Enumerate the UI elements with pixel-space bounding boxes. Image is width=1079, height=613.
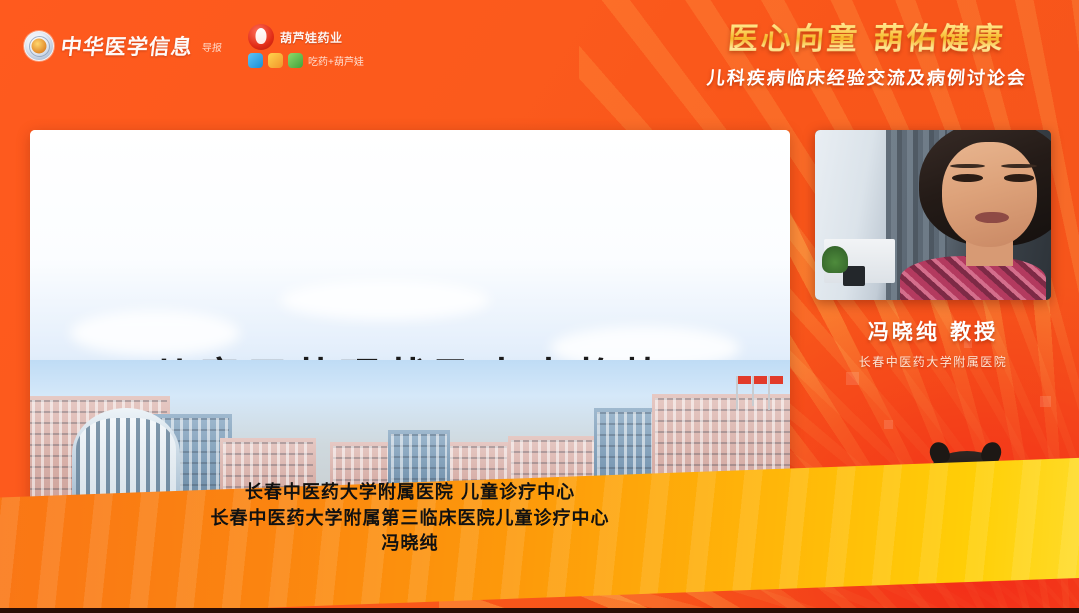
publisher-wordmark: 中华医学信息	[59, 31, 195, 61]
gourd-drop-icon	[248, 24, 274, 50]
speaker-face	[942, 142, 1036, 247]
sponsor-secondary-row: 吃药+葫芦娃	[248, 53, 364, 68]
mascot-eye-left	[948, 487, 956, 497]
sponsor-primary-row: 葫芦娃药业	[248, 24, 364, 50]
flag-pole	[752, 376, 754, 406]
speaker-eye-right	[1004, 174, 1035, 182]
event-title: 医心向童 葫佑健康	[669, 14, 1065, 58]
slide-subtitle-line: 长春中医药大学附属医院 儿童诊疗中心	[30, 480, 790, 506]
speaker-video-panel[interactable]	[815, 130, 1051, 300]
slide-date: 2023.6.21	[30, 557, 790, 560]
speaker-organization: 长春中医药大学附属医院	[815, 353, 1051, 370]
shared-slide[interactable]: 儿童用药现状及未来趋势 修身悟今 厚德精術	[30, 130, 790, 560]
speaker-eye-left	[952, 174, 983, 182]
slide-subtitle-block: 长春中医药大学附属医院 儿童诊疗中心 长春中医药大学附属第三临床医院儿童诊疗中心…	[30, 480, 790, 560]
decor-square	[846, 372, 859, 385]
speaker-mouth	[975, 212, 1008, 224]
speaker-caption: 冯晓纯 教授 长春中医药大学附属医院	[815, 316, 1051, 370]
decor-square	[884, 420, 893, 429]
medical-seal-icon	[24, 31, 54, 61]
plant-shape	[822, 246, 848, 273]
sponsor-tagline: 吃药+葫芦娃	[308, 53, 364, 68]
mascot-cheek-right	[980, 500, 993, 508]
chip-blue-icon	[248, 53, 263, 68]
gourd-boy-mascot	[916, 443, 1066, 583]
header-logo-row: 中华医学信息 导报 葫芦娃药业 吃药+葫芦娃	[24, 24, 364, 68]
publisher-logo: 中华医学信息 导报	[24, 31, 222, 61]
sponsor-name: 葫芦娃药业	[280, 29, 343, 46]
chip-green-icon	[288, 53, 303, 68]
publisher-suffix: 导报	[201, 39, 223, 54]
broadcast-stage: 中华医学信息 导报 葫芦娃药业 吃药+葫芦娃 医心向童 葫佑健康 儿科疾病临床经…	[0, 0, 1079, 613]
flag-pole	[768, 376, 770, 410]
mascot-smile	[958, 503, 974, 511]
mascot-eye-right	[974, 487, 982, 497]
mascot-cheek-left	[939, 500, 952, 508]
event-banner: 医心向童 葫佑健康 儿科疾病临床经验交流及病例讨论会	[671, 14, 1063, 90]
bottom-edge-rule	[0, 608, 1079, 613]
mascot-child-figure	[922, 453, 1014, 571]
speaker-name: 冯晓纯 教授	[815, 316, 1051, 346]
sponsor-logo: 葫芦娃药业 吃药+葫芦娃	[248, 24, 364, 68]
slide-presenter-name: 冯晓纯	[30, 531, 790, 557]
cloud-shape	[280, 280, 490, 320]
slide-subtitle-line: 长春中医药大学附属第三临床医院儿童诊疗中心	[30, 506, 790, 532]
flag-pole	[736, 376, 738, 410]
event-subtitle: 儿科疾病临床经验交流及病例讨论会	[670, 64, 1064, 90]
chip-yellow-icon	[268, 53, 283, 68]
decor-square	[1040, 396, 1051, 407]
